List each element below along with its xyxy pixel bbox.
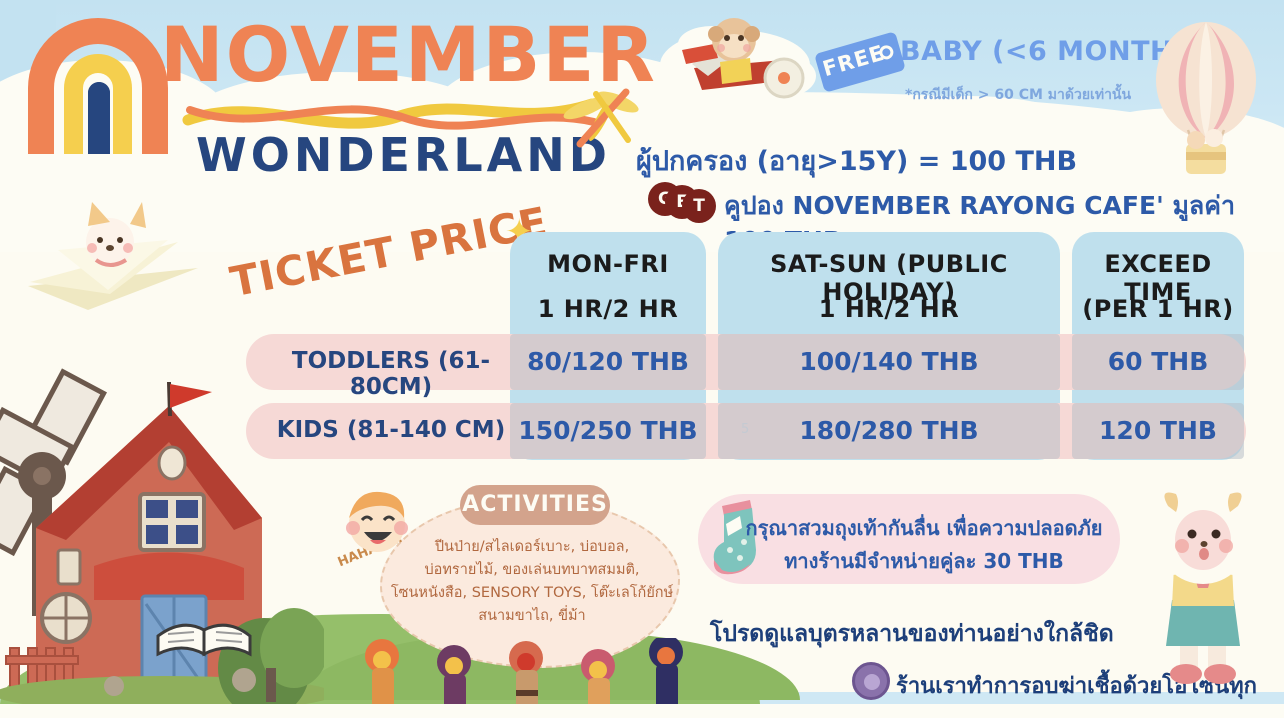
sheep-mascot-icon	[1128, 484, 1278, 709]
column-header-line2: (PER 1 HR)	[1072, 295, 1244, 323]
poster-canvas: NOVEMBER WONDERLAND	[0, 0, 1284, 718]
cell-kids-monfri: 150/250 THB	[510, 403, 706, 459]
cell-toddlers-exceed: 60 THB	[1072, 334, 1244, 390]
supervise-notice: โปรดดูแลบุตรหลานของท่านอย่างใกล้ชิด	[710, 616, 1114, 652]
ground-bottom-strip	[0, 704, 1284, 718]
cell-toddlers-satsun: 100/140 THB	[718, 334, 1060, 390]
monkey-airplane-icon	[672, 6, 822, 131]
cell-toddlers-monfri: 80/120 THB	[510, 334, 706, 390]
column-header-line2: 1 HR/2 HR	[718, 295, 1060, 323]
socks-notice-text: กรุณาสวมถุงเท้ากันลื่น เพื่อความปลอดภัย …	[744, 512, 1104, 578]
get-badge-icon: G E T	[648, 180, 718, 222]
rainbow-logo-icon	[28, 18, 168, 153]
activities-list: ปีนป่าย/สไลเดอร์เบาะ, บ่อบอล, บ่อทรายไม้…	[390, 536, 674, 628]
activity-line: โซนหนังสือ, SENSORY TOYS, โต๊ะเลโก้ยักษ์	[390, 582, 674, 605]
baby-free-note: *กรณีมีเด็ก > 60 CM มาด้วยเท่านั้น	[905, 84, 1131, 106]
hot-air-balloon-icon	[1148, 18, 1268, 183]
activity-line: สนามขาไถ, ขี่ม้า	[390, 605, 674, 628]
activity-line: ปีนป่าย/สไลเดอร์เบาะ, บ่อบอล,	[390, 536, 674, 559]
page-subtitle: WONDERLAND	[196, 128, 611, 182]
guardian-price-text: ผู้ปกครอง (อายุ>15Y) = 100 THB	[636, 139, 1077, 182]
dragonfly-icon	[556, 78, 646, 158]
get-letter: T	[682, 189, 716, 223]
activities-badge: ACTIVITIES	[460, 485, 610, 525]
socks-line-2: ทางร้านมีจำหน่ายคู่ละ 30 THB	[744, 545, 1104, 578]
column-header-line2: 1 HR/2 HR	[510, 295, 706, 323]
open-book-icon	[150, 580, 260, 665]
corgi-paper-plane-icon	[18, 190, 238, 325]
activity-line: บ่อทรายไม้, ของเล่นบทบาทสมมติ,	[390, 559, 674, 582]
cell-kids-satsun: 180/280 THB	[718, 403, 1060, 459]
column-header-line1: MON-FRI	[510, 250, 706, 278]
virus-icon	[852, 662, 890, 700]
socks-line-1: กรุณาสวมถุงเท้ากันลื่น เพื่อความปลอดภัย	[744, 512, 1104, 545]
cell-kids-exceed: 120 THB	[1072, 403, 1244, 459]
